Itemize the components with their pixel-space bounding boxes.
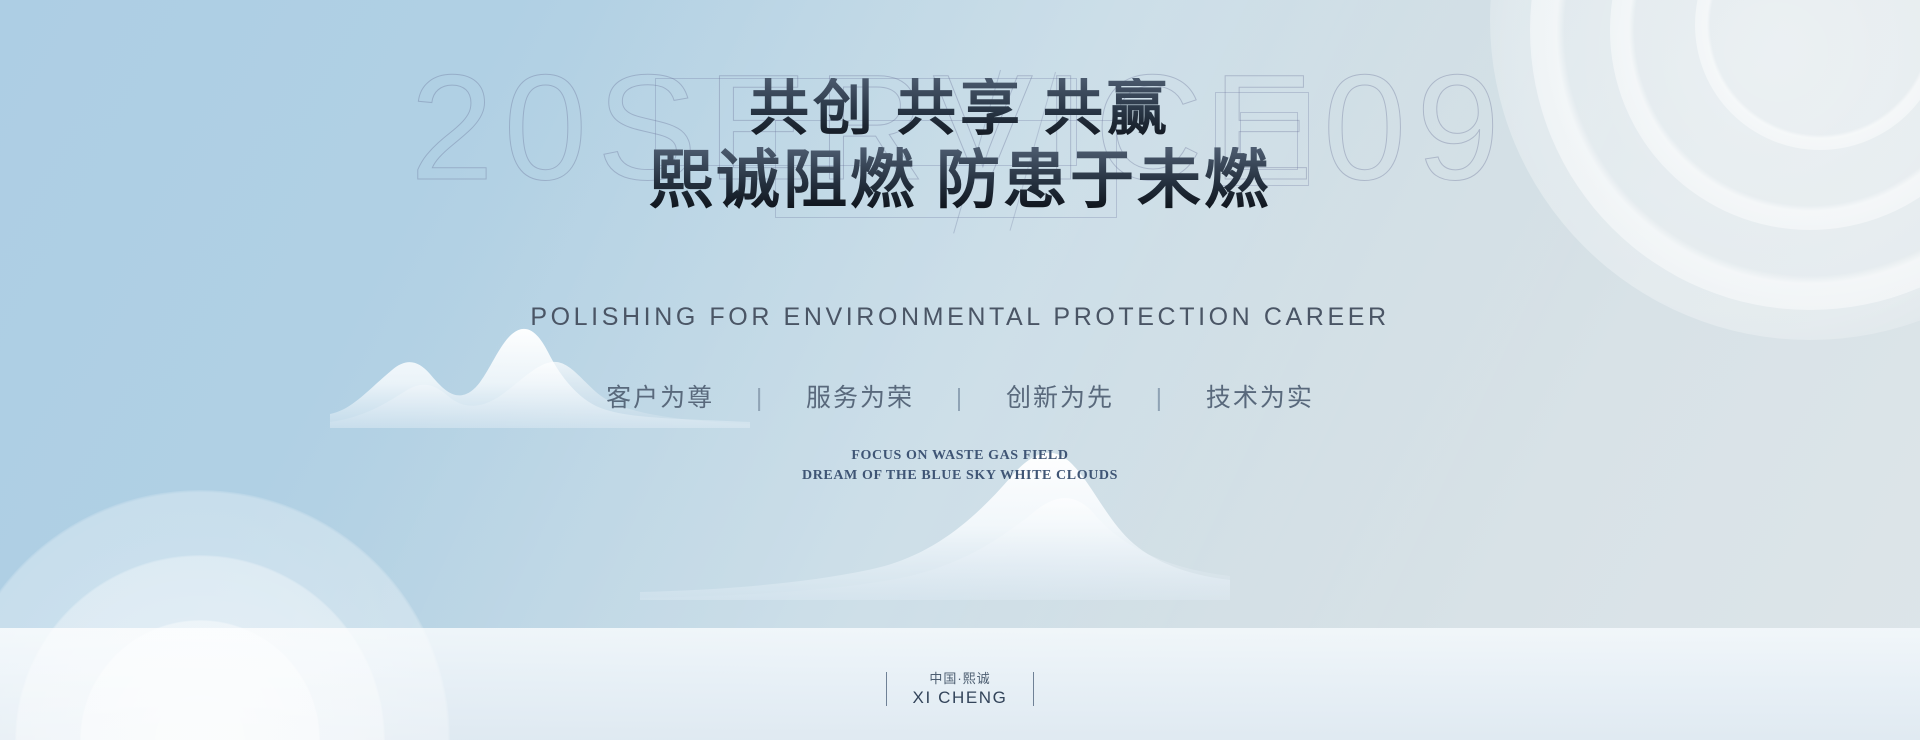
headline-line-1: 共创 共享 共赢 [0, 78, 1920, 141]
banner-content: 共创 共享 共赢 熙诚阻燃 防患于未燃 POLISHING FOR ENVIRO… [0, 0, 1920, 740]
tagline-line-2: DREAM OF THE BLUE SKY WHITE CLOUDS [0, 466, 1920, 486]
headline-line-2: 熙诚阻燃 防患于未燃 [0, 147, 1920, 214]
value-item-1: 客户为尊 [606, 378, 714, 414]
subtitle-english: POLISHING FOR ENVIRONMENTAL PROTECTION C… [0, 303, 1920, 332]
value-separator-1: | [723, 384, 797, 413]
brand-text: 中国·熙诚 XI CHENG [913, 671, 1008, 709]
value-item-3: 创新为先 [1006, 378, 1114, 414]
value-list: 客户为尊 | 服务为荣 | 创新为先 | 技术为实 [0, 378, 1920, 414]
tagline: FOCUS ON WASTE GAS FIELD DREAM OF THE BL… [0, 446, 1920, 487]
brand-divider-left [886, 672, 887, 706]
value-separator-2: | [923, 384, 997, 413]
brand-name-en: XI CHENG [913, 687, 1008, 708]
brand-divider-right [1033, 672, 1034, 706]
brand-name-cn: 中国·熙诚 [913, 671, 1008, 687]
value-separator-3: | [1123, 384, 1197, 413]
value-item-4: 技术为实 [1206, 378, 1314, 414]
brand-lockup: 中国·熙诚 XI CHENG [0, 671, 1920, 709]
headline: 共创 共享 共赢 熙诚阻燃 防患于未燃 [0, 78, 1920, 214]
value-item-2: 服务为荣 [806, 378, 914, 414]
promo-banner: 20SERVICE09 [0, 0, 1920, 740]
tagline-line-1: FOCUS ON WASTE GAS FIELD [0, 446, 1920, 466]
